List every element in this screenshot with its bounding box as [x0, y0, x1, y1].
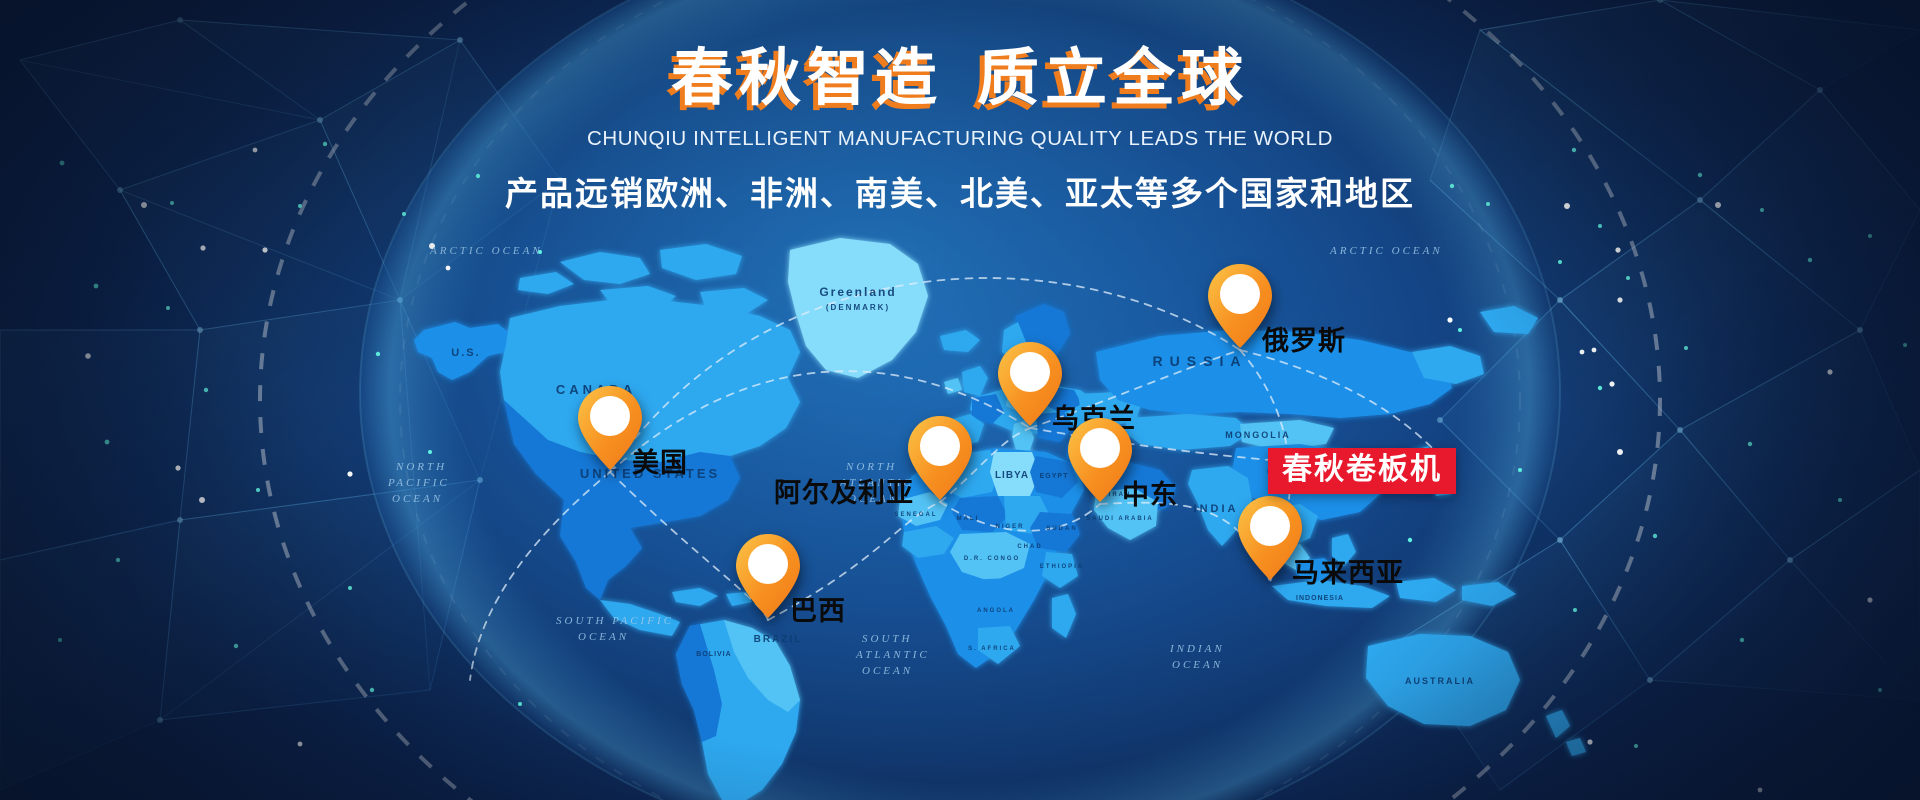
marker-label: 美国 — [632, 450, 688, 477]
svg-text:INDIAN: INDIAN — [1169, 643, 1225, 655]
svg-text:SOUTH PACIFIC: SOUTH PACIFIC — [556, 615, 674, 627]
svg-text:MONGOLIA: MONGOLIA — [1225, 430, 1291, 440]
svg-text:EGYPT: EGYPT — [1040, 473, 1069, 480]
svg-text:D.R. CONGO: D.R. CONGO — [964, 556, 1020, 562]
svg-text:LIBYA: LIBYA — [995, 470, 1029, 481]
subtitle-chinese: 产品远销欧洲、非洲、南美、北美、亚太等多个国家和地区 — [0, 167, 1920, 215]
marker-label: 马来西亚 — [1292, 560, 1404, 587]
marker-label: 阿尔及利亚 — [774, 480, 914, 507]
svg-text:OCEAN: OCEAN — [862, 665, 913, 677]
marker-label: 俄罗斯 — [1262, 328, 1346, 355]
svg-text:(DENMARK): (DENMARK) — [826, 303, 890, 312]
svg-text:NORTH: NORTH — [845, 461, 897, 473]
svg-text:RUSSIA: RUSSIA — [1153, 353, 1248, 369]
headline-part-2: 质立全球 — [977, 44, 1249, 113]
svg-text:BRAZIL: BRAZIL — [754, 634, 803, 645]
svg-text:U.S.: U.S. — [451, 347, 480, 359]
svg-text:Greenland: Greenland — [819, 285, 896, 299]
headline-part-1: 春秋智造 — [671, 44, 943, 113]
svg-text:CHAD: CHAD — [1017, 544, 1042, 550]
svg-text:OCEAN: OCEAN — [1172, 659, 1223, 671]
svg-text:SOUTH: SOUTH — [862, 633, 912, 645]
location-pin-icon — [906, 414, 974, 502]
svg-text:OCEAN: OCEAN — [578, 631, 629, 643]
svg-text:SAUDI ARABIA: SAUDI ARABIA — [1086, 516, 1153, 522]
svg-text:NORTH: NORTH — [395, 461, 447, 473]
svg-text:ARCTIC OCEAN: ARCTIC OCEAN — [1329, 245, 1443, 257]
svg-text:SENEGAL: SENEGAL — [894, 512, 937, 518]
marker-label: 巴西 — [790, 598, 846, 625]
product-badge[interactable]: 春秋卷板机 — [1268, 448, 1456, 494]
svg-text:MALI: MALI — [957, 516, 980, 522]
headline-block: 春秋智造质立全球 CHUNQIU INTELLIGENT MANUFACTURI… — [0, 44, 1920, 215]
hero-banner: ARCTIC OCEAN ARCTIC OCEAN NORTH PACIFIC … — [0, 0, 1920, 800]
svg-text:AUSTRALIA: AUSTRALIA — [1405, 676, 1475, 686]
marker-label: 中东 — [1122, 482, 1178, 509]
svg-text:OCEAN: OCEAN — [392, 493, 443, 505]
svg-text:ARCTIC OCEAN: ARCTIC OCEAN — [429, 245, 543, 257]
svg-text:BOLIVIA: BOLIVIA — [696, 651, 731, 658]
svg-text:ATLANTIC: ATLANTIC — [855, 649, 930, 661]
svg-text:NIGER: NIGER — [995, 524, 1024, 530]
svg-text:ETHIOPIA: ETHIOPIA — [1040, 564, 1084, 570]
svg-text:INDIA: INDIA — [1194, 503, 1239, 515]
svg-text:S. AFRICA: S. AFRICA — [968, 646, 1016, 652]
main-headline: 春秋智造质立全球 — [671, 44, 1249, 113]
svg-text:INDONESIA: INDONESIA — [1296, 595, 1344, 602]
svg-text:PACIFIC: PACIFIC — [387, 477, 450, 489]
svg-text:ANGOLA: ANGOLA — [977, 608, 1015, 614]
svg-text:SUDAN: SUDAN — [1046, 526, 1077, 532]
subtitle-english: CHUNQIU INTELLIGENT MANUFACTURING QUALIT… — [0, 127, 1920, 151]
